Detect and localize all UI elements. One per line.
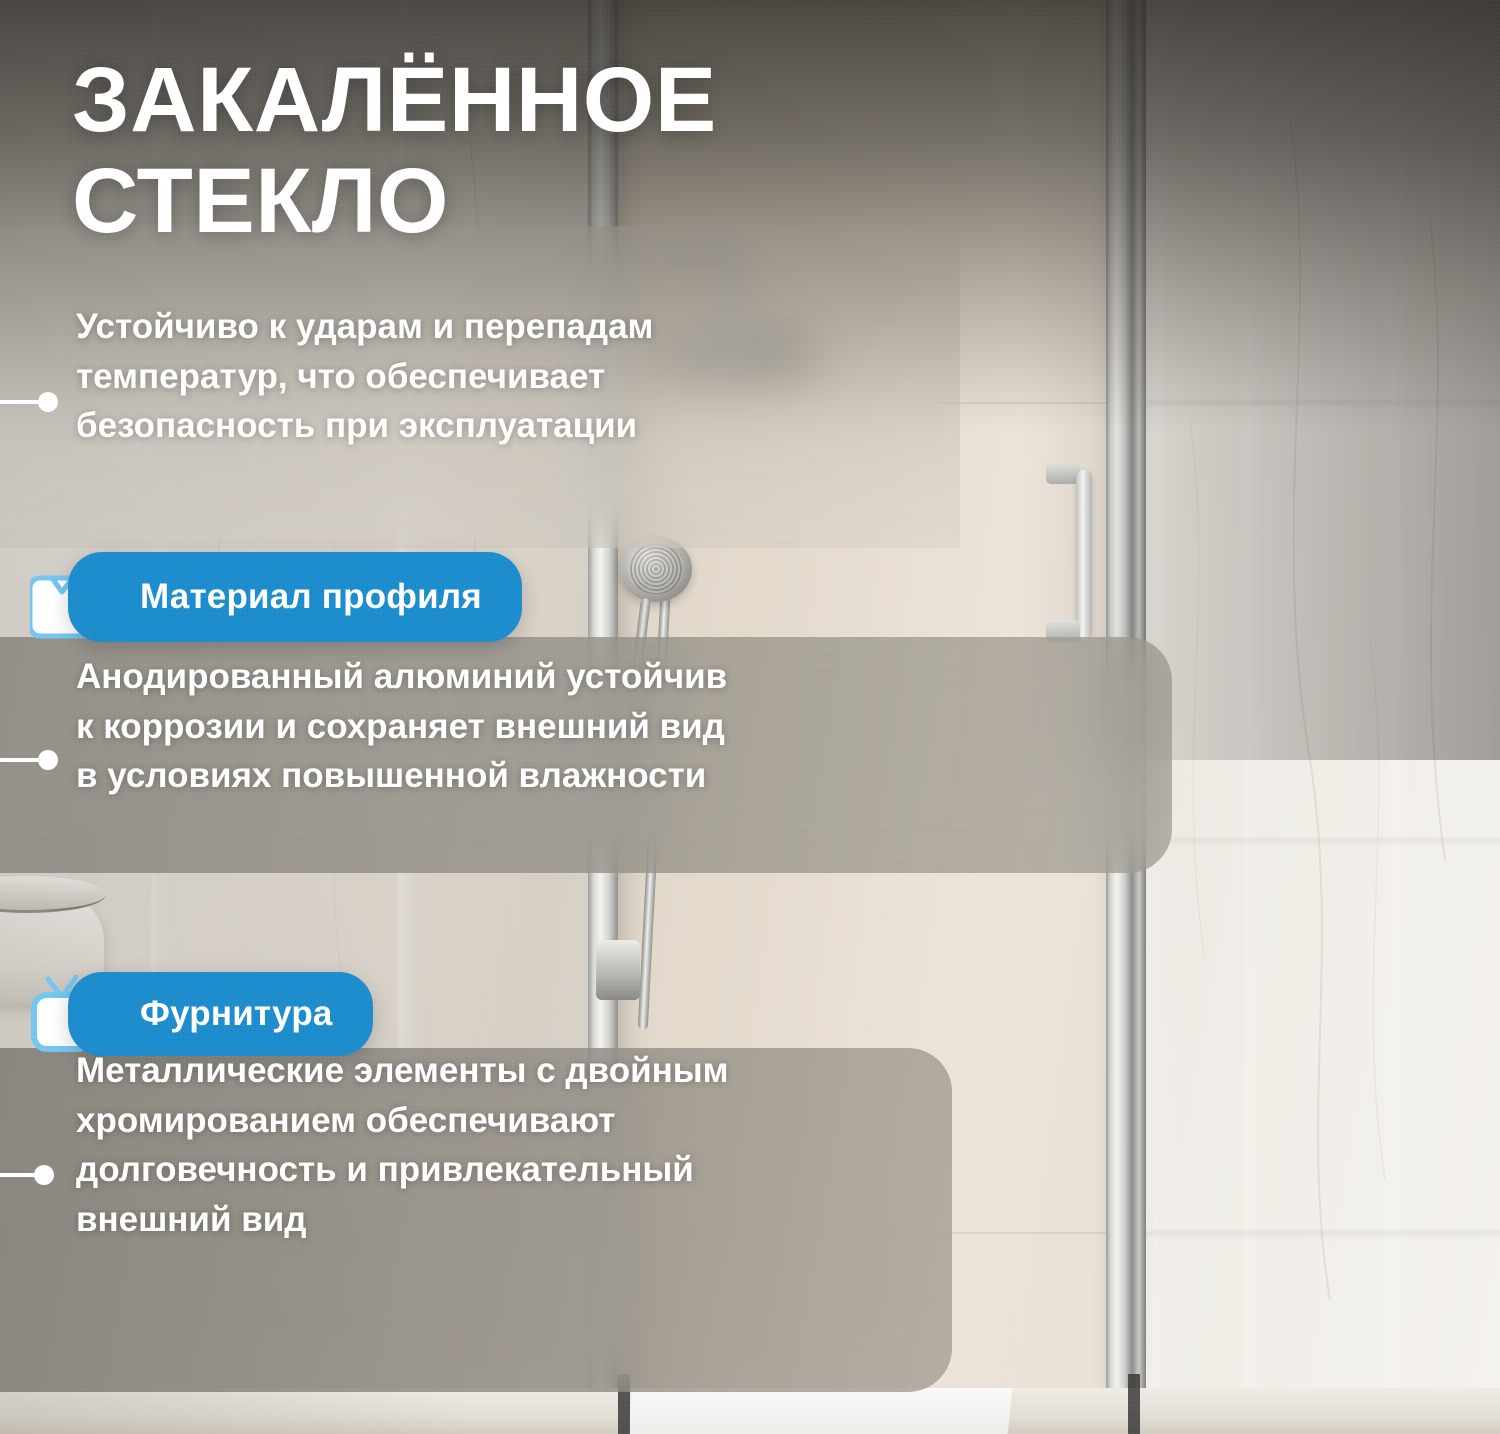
- feature-body-tempered-glass: Устойчиво к ударам и перепадам температу…: [76, 302, 896, 451]
- badge-profile-material[interactable]: Материал профиля: [68, 552, 522, 642]
- connector-dot-2: [38, 750, 58, 770]
- poster-content: ЗАКАЛЁННОЕ СТЕКЛО Устойчиво к ударам и п…: [0, 0, 1500, 1434]
- product-feature-poster: ЗАКАЛЁННОЕ СТЕКЛО Устойчиво к ударам и п…: [0, 0, 1500, 1434]
- connector-dot-1: [38, 392, 58, 412]
- badge-profile-material-label: Материал профиля: [140, 577, 482, 617]
- feature-body-hardware: Металлические элементы с двойным хромиро…: [76, 1046, 976, 1245]
- badge-hardware[interactable]: Фурнитура: [68, 972, 373, 1056]
- badge-hardware-label: Фурнитура: [140, 994, 333, 1034]
- feature-body-profile-material: Анодированный алюминий устойчив к корроз…: [76, 652, 976, 801]
- connector-dot-3: [34, 1165, 54, 1185]
- page-title: ЗАКАЛЁННОЕ СТЕКЛО: [72, 50, 972, 252]
